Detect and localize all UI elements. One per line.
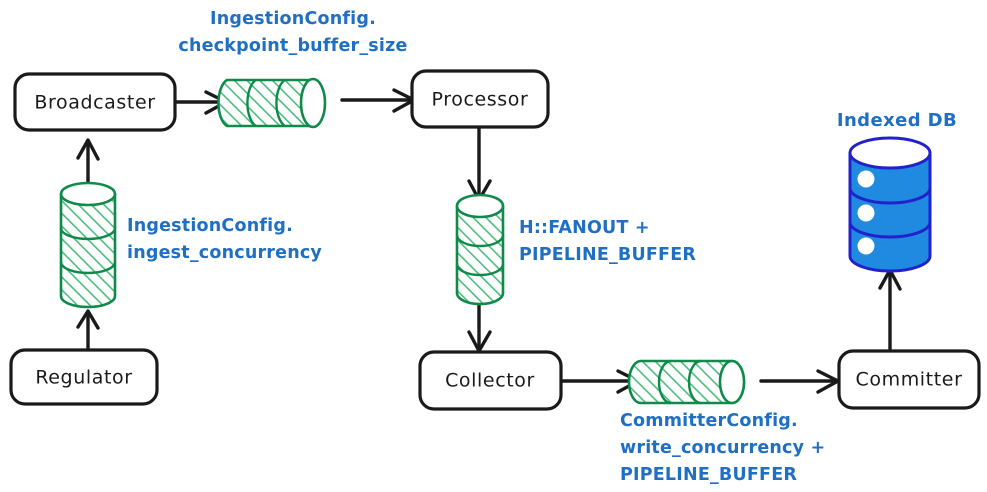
node-indexed-db[interactable]: Indexed DB xyxy=(837,110,957,271)
annotation-fanout-buffer: H::FANOUT + PIPELINE_BUFFER xyxy=(519,218,696,265)
node-processor-label: Processor xyxy=(432,89,529,111)
edge-ingest-queue-to-broadcaster xyxy=(78,140,98,183)
edge-processor-to-fanout-queue xyxy=(469,127,490,200)
node-collector[interactable]: Collector xyxy=(420,352,561,409)
db-indicator-dot-2 xyxy=(858,205,875,222)
annotation-checkpoint-buffer: IngestionConfig. checkpoint_buffer_size xyxy=(178,9,407,56)
node-broadcaster[interactable]: Broadcaster xyxy=(15,74,175,130)
edge-collector-to-write-queue xyxy=(561,371,638,392)
node-processor[interactable]: Processor xyxy=(412,71,548,127)
diagram-svg: Broadcaster Processor Regulator Collecto… xyxy=(0,0,987,492)
annotation-ingest-concurrency-line-2: ingest_concurrency xyxy=(127,243,322,263)
annotation-checkpoint-buffer-line-1: IngestionConfig. xyxy=(210,9,376,29)
node-regulator-label: Regulator xyxy=(35,367,132,389)
indexed-db-label: Indexed DB xyxy=(837,110,957,131)
node-broadcaster-label: Broadcaster xyxy=(34,92,155,114)
node-collector-label: Collector xyxy=(445,370,535,392)
node-regulator[interactable]: Regulator xyxy=(11,350,157,404)
annotation-checkpoint-buffer-line-2: checkpoint_buffer_size xyxy=(178,36,407,56)
edge-write-queue-to-committer xyxy=(761,371,838,392)
node-committer-label: Committer xyxy=(856,369,963,391)
annotation-write-concurrency-line-2: write_concurrency + xyxy=(620,438,825,458)
annotation-fanout-buffer-line-2: PIPELINE_BUFFER xyxy=(519,245,696,265)
queue-ingest-queue xyxy=(61,183,115,307)
queue-checkpoint-queue xyxy=(218,79,325,127)
annotation-write-concurrency-line-3: PIPELINE_BUFFER xyxy=(620,465,797,485)
annotation-ingest-concurrency: IngestionConfig. ingest_concurrency xyxy=(127,216,322,263)
edge-committer-to-indexed-db xyxy=(880,270,900,350)
annotation-fanout-buffer-line-1: H::FANOUT + xyxy=(519,218,650,238)
annotation-ingest-concurrency-line-1: IngestionConfig. xyxy=(127,216,293,236)
db-indicator-dot-1 xyxy=(858,171,875,188)
queue-write-queue xyxy=(629,361,744,403)
node-committer[interactable]: Committer xyxy=(839,351,979,408)
edge-checkpoint-queue-to-processor xyxy=(342,90,414,111)
db-indicator-dot-3 xyxy=(858,238,875,255)
edge-fanout-queue-to-collector xyxy=(469,300,490,351)
edge-regulator-to-ingest-queue xyxy=(78,311,98,349)
annotation-write-concurrency: CommitterConfig. write_concurrency + PIP… xyxy=(620,411,825,485)
queue-fanout-queue xyxy=(457,195,503,304)
annotation-write-concurrency-line-1: CommitterConfig. xyxy=(620,411,798,431)
diagram-canvas: Broadcaster Processor Regulator Collecto… xyxy=(0,0,987,492)
